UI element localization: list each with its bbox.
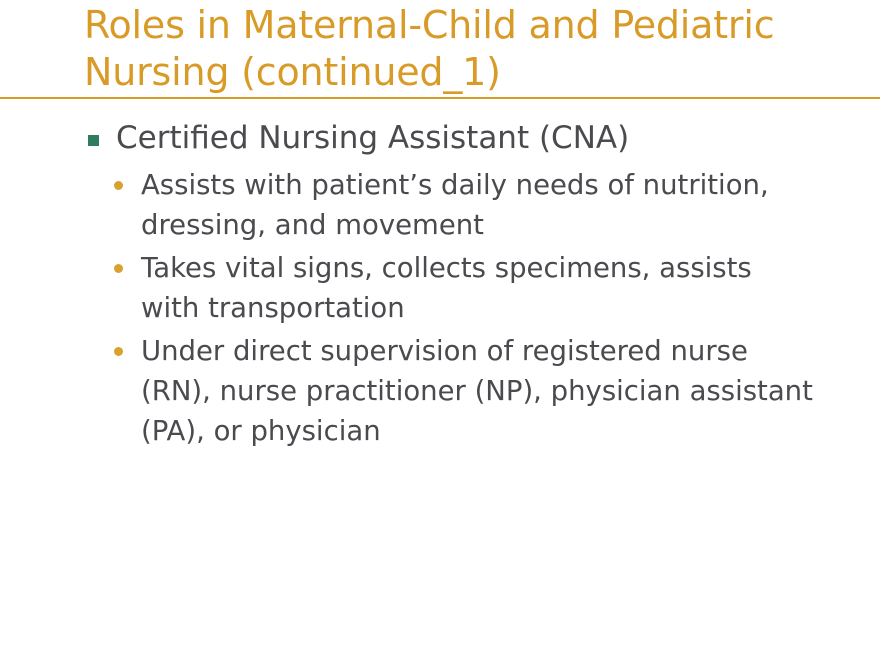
slide-title-block: Roles in Maternal-Child and Pediatric Nu… bbox=[0, 0, 880, 96]
slide-canvas: Roles in Maternal-Child and Pediatric Nu… bbox=[0, 0, 880, 660]
list-item: Assists with patient’s daily needs of nu… bbox=[0, 165, 880, 245]
title-divider-rule bbox=[0, 97, 880, 99]
slide-body-content: Certified Nursing Assistant (CNA) Assist… bbox=[0, 118, 880, 454]
list-item-label: Assists with patient’s daily needs of nu… bbox=[141, 169, 769, 241]
dot-bullet-icon bbox=[114, 264, 123, 273]
dot-bullet-icon bbox=[114, 181, 123, 190]
list-item-label: Under direct supervision of registered n… bbox=[141, 335, 813, 447]
list-item: Certified Nursing Assistant (CNA) bbox=[0, 118, 880, 159]
dot-bullet-icon bbox=[114, 347, 123, 356]
list-item-label: Takes vital signs, collects specimens, a… bbox=[141, 252, 752, 324]
list-item-label: Certified Nursing Assistant (CNA) bbox=[116, 120, 629, 156]
page-title: Roles in Maternal-Child and Pediatric Nu… bbox=[84, 2, 880, 96]
list-item: Under direct supervision of registered n… bbox=[0, 331, 880, 451]
square-bullet-icon bbox=[88, 135, 99, 146]
list-item: Takes vital signs, collects specimens, a… bbox=[0, 248, 880, 328]
